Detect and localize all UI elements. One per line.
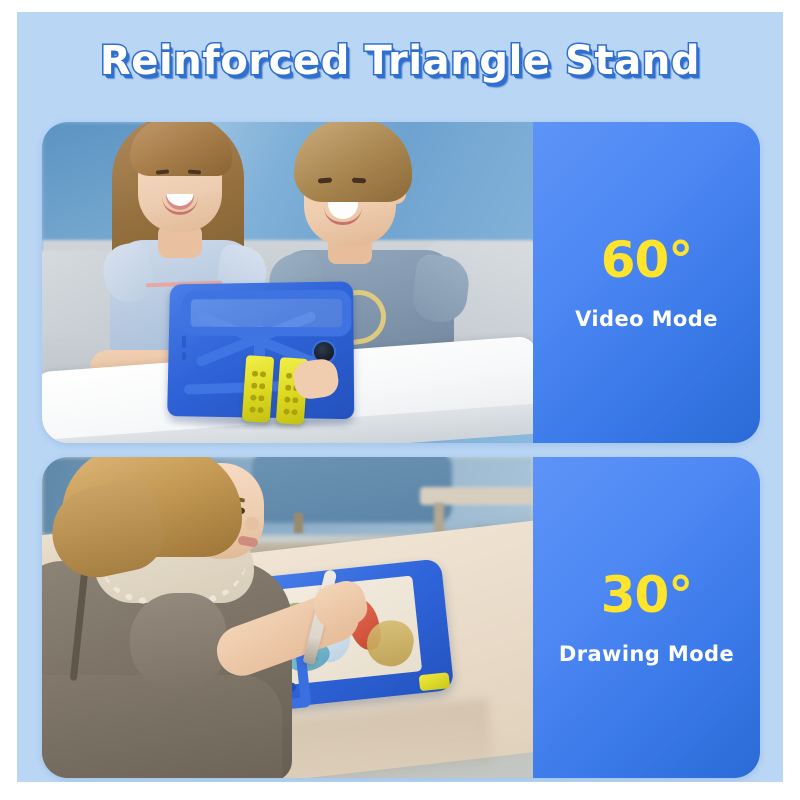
info-panel-video-mode: 60° Video Mode xyxy=(533,122,760,443)
girl-hair-top xyxy=(130,122,232,176)
case-carry-handle xyxy=(182,290,352,337)
mode-label-video: Video Mode xyxy=(575,307,718,331)
title-bar: Reinforced Triangle Stand xyxy=(17,12,783,110)
feature-card-drawing-mode: 30° Drawing Mode xyxy=(42,457,760,778)
info-panel-drawing-mode: 30° Drawing Mode xyxy=(533,457,760,778)
boy-eye-right xyxy=(352,178,366,184)
kickstand-leg-flat xyxy=(419,672,451,691)
volume-button-cutout xyxy=(182,336,186,348)
product-feature-poster: Reinforced Triangle Stand xyxy=(17,12,783,782)
boy-hair xyxy=(294,122,412,202)
background-sofa-leg xyxy=(294,513,303,533)
feature-card-video-mode: :: 60° Video Mode xyxy=(42,122,760,443)
angle-value-drawing: 30° xyxy=(601,570,693,620)
kickstand-leg-left xyxy=(242,355,275,423)
photo-drawing-mode xyxy=(42,457,533,778)
child-dress-skirt xyxy=(42,675,282,778)
child-sleeve xyxy=(130,593,226,689)
mode-label-drawing: Drawing Mode xyxy=(559,642,734,666)
kickstand-holes-left xyxy=(249,370,266,415)
photo-video-mode: :: xyxy=(42,122,533,443)
page-title: Reinforced Triangle Stand xyxy=(100,38,700,84)
child-nose xyxy=(245,517,259,531)
power-button-cutout xyxy=(182,352,186,360)
girl-eye-right xyxy=(188,170,201,175)
angle-value-video: 60° xyxy=(601,235,693,285)
